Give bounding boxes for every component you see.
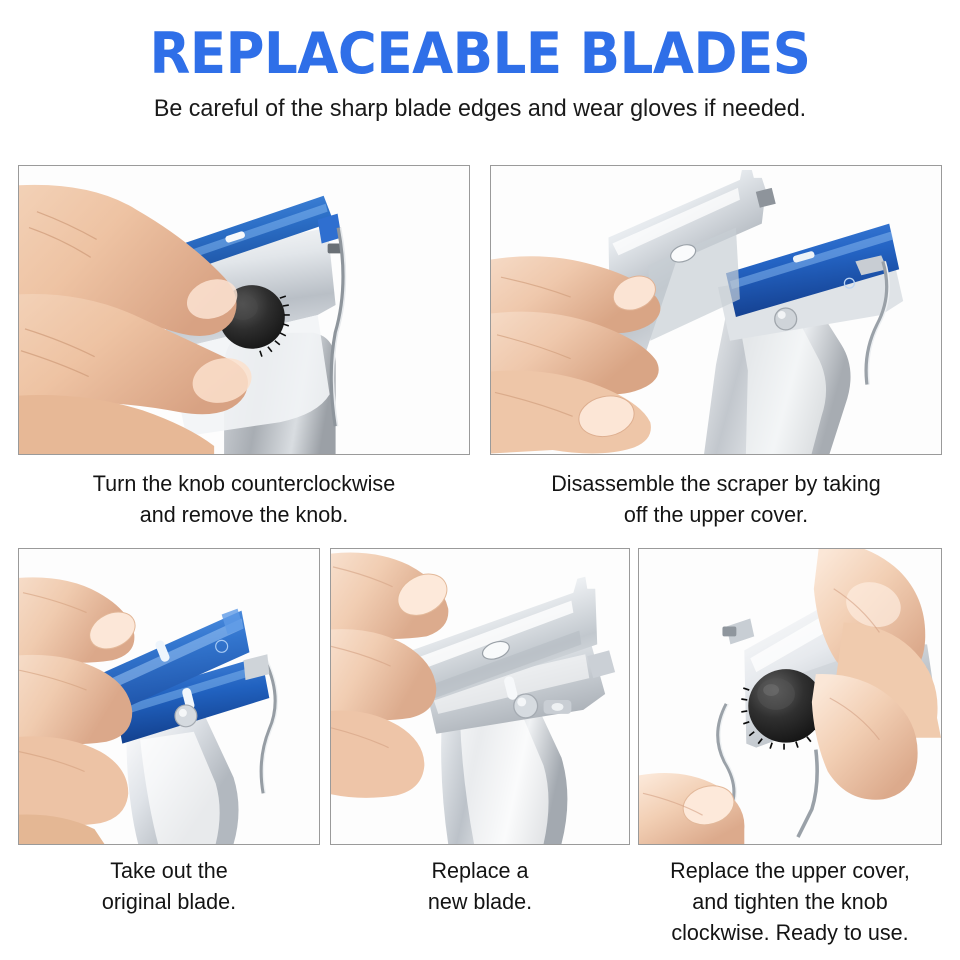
photo-hands-tightening-knob <box>639 549 941 844</box>
caption-line: original blade. <box>21 886 317 917</box>
caption-line: Replace a <box>333 855 627 886</box>
step-image-panel-2 <box>490 165 942 455</box>
step-image-panel-5 <box>638 548 942 845</box>
infographic-page: REPLACEABLE BLADES Be careful of the sha… <box>0 0 960 960</box>
page-subtitle: Be careful of the sharp blade edges and … <box>14 94 945 124</box>
photo-hand-turning-knob <box>19 166 469 454</box>
caption-line: Take out the <box>21 855 317 886</box>
step-caption-1: Turn the knob counterclockwise and remov… <box>23 468 466 530</box>
step-caption-5: Replace the upper cover, and tighten the… <box>633 855 947 948</box>
step-image-panel-1 <box>18 165 470 455</box>
step-caption-4: Replace a new blade. <box>333 855 627 917</box>
caption-line: Turn the knob counterclockwise <box>23 468 466 499</box>
step-caption-2: Disassemble the scraper by taking off th… <box>495 468 938 530</box>
step-image-panel-4 <box>330 548 630 845</box>
caption-line: off the upper cover. <box>495 499 938 530</box>
caption-line: Replace the upper cover, <box>633 855 947 886</box>
photo-hand-inserting-new-blade <box>331 549 629 844</box>
step-caption-3: Take out the original blade. <box>21 855 317 917</box>
page-title: REPLACEABLE BLADES <box>34 22 927 86</box>
caption-line: Disassemble the scraper by taking <box>495 468 938 499</box>
caption-line: and remove the knob. <box>23 499 466 530</box>
caption-line: clockwise. Ready to use. <box>633 917 947 948</box>
photo-hand-removing-blue-blade <box>19 549 319 844</box>
photo-hand-removing-upper-cover <box>491 166 941 454</box>
caption-line: and tighten the knob <box>633 886 947 917</box>
step-image-panel-3 <box>18 548 320 845</box>
caption-line: new blade. <box>333 886 627 917</box>
